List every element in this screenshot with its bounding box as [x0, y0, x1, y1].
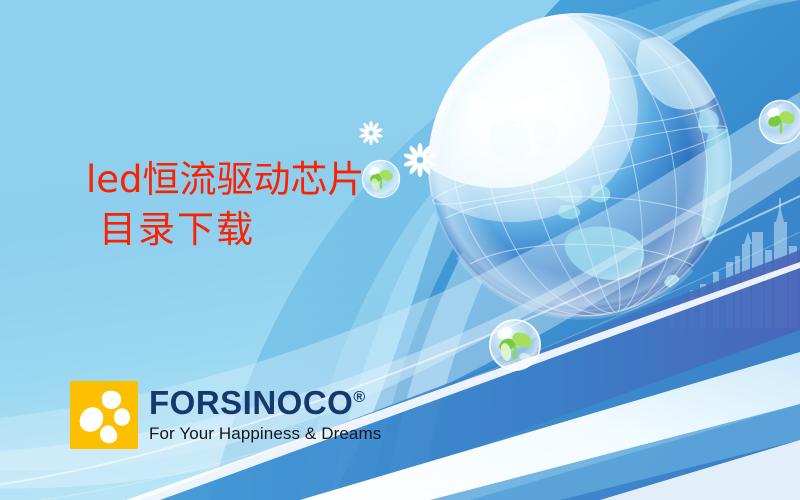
- four-petal-pinwheel-icon: [70, 381, 138, 449]
- green-sprout-bubble: [362, 160, 400, 198]
- registered-trademark-icon: ®: [353, 389, 365, 406]
- brand-name-text: FORSINOCO: [149, 384, 353, 421]
- company-logo[interactable]: FORSINOCO® For Your Happiness & Dreams: [70, 381, 381, 449]
- brand-tagline: For Your Happiness & Dreams: [149, 424, 381, 444]
- green-sprout-bubble: [489, 319, 541, 371]
- headline-line-1: led恒流驱动芯片: [86, 160, 365, 200]
- logo-wordmark: FORSINOCO® For Your Happiness & Dreams: [149, 386, 381, 444]
- headline-block: led恒流驱动芯片 目录下载: [86, 160, 365, 250]
- headline-line-2: 目录下载: [99, 210, 365, 250]
- brand-name: FORSINOCO®: [149, 386, 381, 419]
- promo-banner: led恒流驱动芯片 目录下载 FORSINOCO®: [0, 0, 800, 500]
